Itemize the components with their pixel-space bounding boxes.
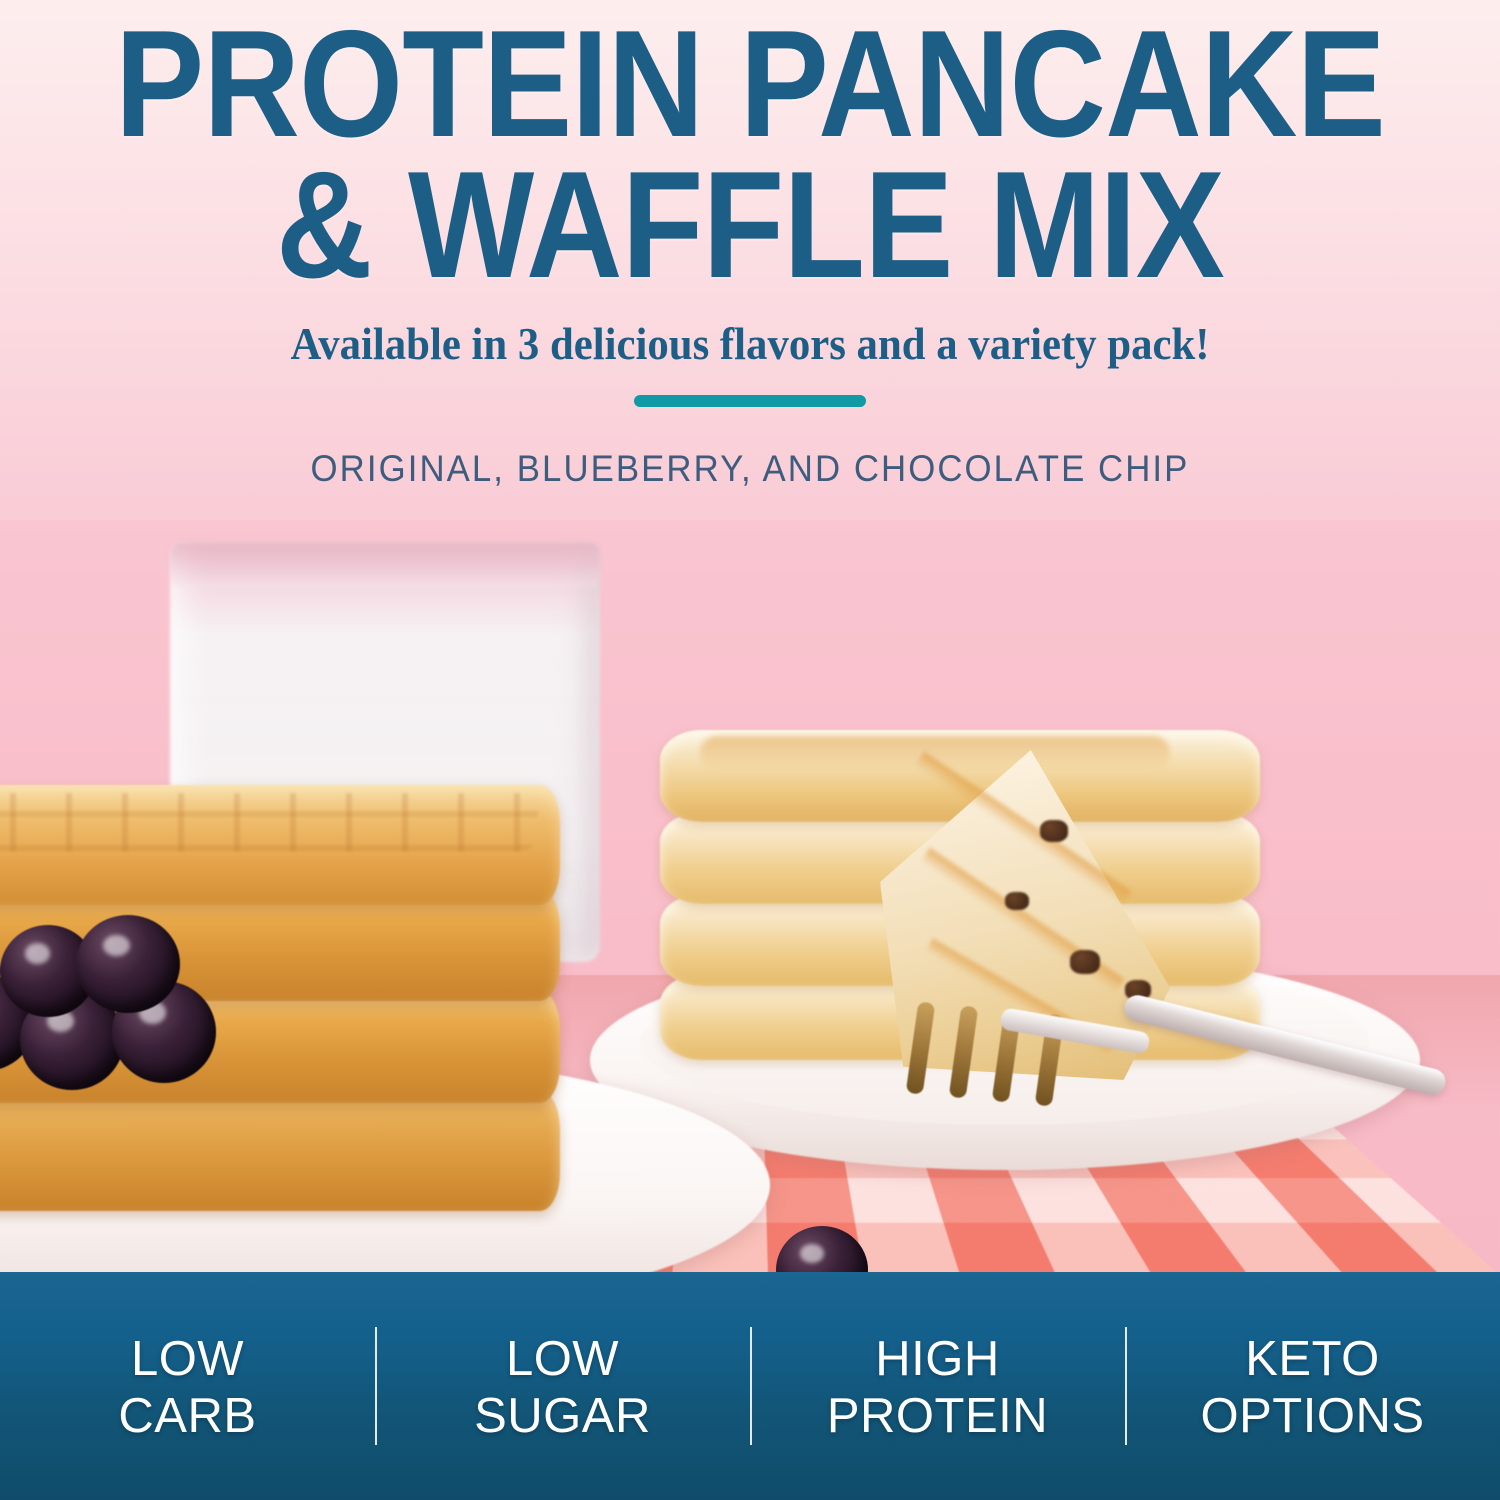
blueberry-2 bbox=[76, 915, 180, 1013]
chocolate-chip-1 bbox=[1040, 820, 1068, 842]
feature-low-carb-line1: LOW bbox=[0, 1331, 375, 1388]
feature-keto-options: KETO OPTIONS bbox=[1125, 1327, 1500, 1445]
feature-high-protein: HIGH PROTEIN bbox=[750, 1327, 1125, 1445]
feature-high-protein-line2: PROTEIN bbox=[750, 1388, 1125, 1445]
product-poster: PROTEIN PANCAKE & WAFFLE MIX Available i… bbox=[0, 0, 1500, 1500]
waffle-top bbox=[0, 785, 560, 905]
waffle-grid-texture bbox=[0, 793, 538, 851]
divider-container bbox=[0, 370, 1500, 412]
product-photo bbox=[0, 520, 1500, 1275]
subtitle: Available in 3 delicious flavors and a v… bbox=[53, 297, 1448, 370]
feature-low-carb-line2: CARB bbox=[0, 1388, 375, 1445]
feature-low-sugar-line2: SUGAR bbox=[375, 1388, 750, 1445]
page-title: PROTEIN PANCAKE & WAFFLE MIX bbox=[90, 0, 1410, 297]
feature-low-carb: LOW CARB bbox=[0, 1327, 375, 1445]
feature-high-protein-line1: HIGH bbox=[750, 1331, 1125, 1388]
feature-low-sugar: LOW SUGAR bbox=[375, 1327, 750, 1445]
chocolate-chip-2 bbox=[1005, 892, 1029, 910]
headline-line-2: & WAFFLE MIX bbox=[90, 155, 1410, 296]
poster-header: PROTEIN PANCAKE & WAFFLE MIX Available i… bbox=[0, 0, 1500, 490]
feature-keto-options-line1: KETO bbox=[1125, 1331, 1500, 1388]
feature-keto-options-line2: OPTIONS bbox=[1125, 1388, 1500, 1445]
milk-glass-rim bbox=[170, 542, 600, 588]
feature-low-sugar-line1: LOW bbox=[375, 1331, 750, 1388]
teal-divider-bar bbox=[634, 395, 866, 407]
waffle-bottom bbox=[0, 1091, 560, 1211]
feature-bar: LOW CARB LOW SUGAR HIGH PROTEIN KETO OPT… bbox=[0, 1272, 1500, 1500]
flavors-list: ORIGINAL, BLUEBERRY, AND CHOCOLATE CHIP bbox=[45, 412, 1455, 490]
chocolate-chip-3 bbox=[1070, 950, 1100, 974]
waffle-stack bbox=[0, 785, 580, 1215]
